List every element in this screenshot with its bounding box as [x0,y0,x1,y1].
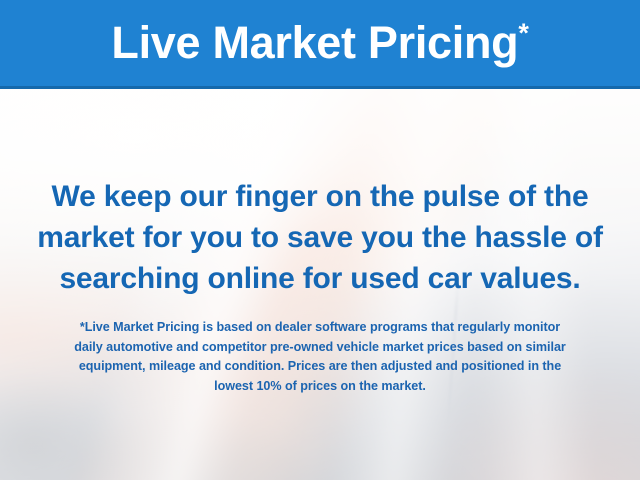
disclaimer-line-1: *Live Market Pricing is based on dealer … [28,318,612,338]
headline-block: We keep our finger on the pulse of the m… [0,176,640,299]
disclaimer-line-4: lowest 10% of prices on the market. [28,377,612,397]
disclaimer-block: *Live Market Pricing is based on dealer … [28,318,612,396]
page-title-asterisk: * [518,18,528,48]
page-title-text: Live Market Pricing [111,17,518,68]
headline-line-1: We keep our finger on the pulse of the [0,176,640,217]
page-title: Live Market Pricing* [111,20,528,69]
disclaimer-line-2: daily automotive and competitor pre-owne… [28,338,612,358]
headline-line-2: market for you to save you the hassle of [0,217,640,258]
disclaimer-line-3: equipment, mileage and condition. Prices… [28,357,612,377]
header-bar: Live Market Pricing* [0,0,640,89]
live-market-pricing-banner: Live Market Pricing* We keep our finger … [0,0,640,480]
header-bottom-rule [0,86,640,89]
headline-line-3: searching online for used car values. [0,258,640,299]
